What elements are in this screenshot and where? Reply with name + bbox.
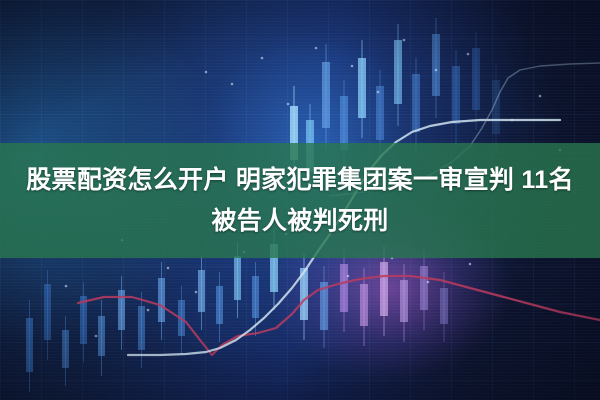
candle-body: [452, 66, 460, 124]
headline-band: 股票配资怎么开户 明家犯罪集团案一审宣判 11名被告人被判死刑: [0, 143, 600, 258]
candle-body: [322, 62, 330, 128]
sparkle-dot: [467, 53, 470, 56]
candle-body: [98, 316, 105, 356]
sparkle-dot: [95, 335, 98, 338]
sparkle-dot: [347, 275, 350, 278]
trendline-crimson-trendline: [78, 276, 600, 355]
sparkle-dot: [167, 267, 170, 270]
candle-body: [216, 286, 223, 324]
candle-body: [376, 86, 384, 140]
sparkle-dot: [315, 47, 318, 50]
sparkle-dot: [195, 291, 198, 294]
candle-body: [26, 318, 33, 372]
candle-body: [158, 278, 165, 322]
sparkle-dot: [403, 39, 406, 42]
sparkle-dot: [377, 91, 380, 94]
candle-body: [234, 256, 241, 300]
headline-title: 股票配资怎么开户 明家犯罪集团案一审宣判 11名被告人被判死刑: [22, 160, 578, 242]
sparkle-dot: [231, 83, 234, 86]
news-thumbnail-image: 股票配资怎么开户 明家犯罪集团案一审宣判 11名被告人被判死刑: [0, 0, 600, 400]
candle-body: [198, 270, 205, 312]
candle-body: [360, 284, 368, 326]
sparkle-dot: [539, 95, 542, 98]
candle-body: [340, 96, 348, 150]
candle-body: [472, 48, 480, 110]
candle-body: [412, 74, 420, 132]
candle-body: [432, 34, 440, 96]
candle-body: [252, 276, 259, 318]
sparkle-dot: [287, 103, 290, 106]
candle-body: [340, 264, 348, 312]
sparkle-dot: [65, 285, 68, 288]
sparkle-dot: [147, 309, 150, 312]
candle-body: [44, 284, 51, 340]
sparkle-dot: [435, 69, 438, 72]
candle-body: [62, 330, 69, 368]
sparkle-dot: [205, 71, 208, 74]
candle-body: [420, 266, 428, 310]
candle-body: [394, 40, 402, 104]
sparkle-dot: [261, 57, 264, 60]
candle-body: [138, 306, 145, 350]
candle-body: [380, 262, 388, 316]
candle-body: [400, 280, 408, 322]
candle-body: [358, 58, 366, 118]
candle-body: [440, 288, 448, 324]
sparkle-dot: [427, 281, 430, 284]
sparkle-dot: [351, 65, 354, 68]
sparkle-dot: [469, 263, 472, 266]
